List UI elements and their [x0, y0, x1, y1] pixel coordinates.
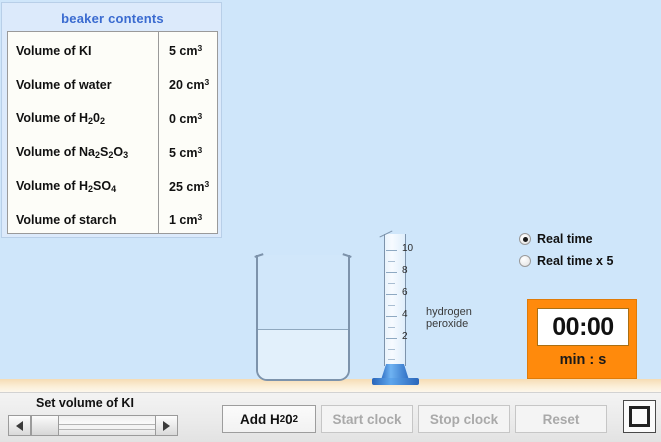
- simulation-canvas: beaker contents Volume of KI 5 cm3 Volum…: [0, 0, 661, 442]
- timer-value: 00:00: [537, 308, 629, 346]
- cylinder-tick-minor: [388, 261, 395, 262]
- cylinder-tick-label: 10: [402, 243, 413, 254]
- table-row: Volume of Na2S2O3 5 cm3: [8, 135, 217, 169]
- hydrogen-peroxide-label: hydrogen peroxide: [426, 306, 472, 330]
- table-row: Volume of H2SO4 25 cm3: [8, 169, 217, 203]
- cylinder-tick-label: 8: [402, 265, 408, 276]
- cylinder-tick-10: [386, 250, 397, 251]
- row-label: Volume of water: [8, 78, 158, 92]
- beaker-contents-panel: beaker contents Volume of KI 5 cm3 Volum…: [1, 2, 222, 238]
- cylinder-tick-minor: [388, 305, 395, 306]
- cylinder-tick-label: 4: [402, 309, 408, 320]
- cylinder-base-plate: [372, 378, 419, 385]
- table-row: Volume of starch 1 cm3: [8, 203, 217, 237]
- slider-track[interactable]: [31, 416, 155, 435]
- beaker-contents-table: Volume of KI 5 cm3 Volume of water 20 cm…: [7, 31, 218, 234]
- cylinder-tick-minor: [388, 359, 395, 360]
- fullscreen-button[interactable]: [623, 400, 656, 433]
- start-clock-button[interactable]: Start clock: [321, 405, 413, 433]
- table-row: Volume of water 20 cm3: [8, 68, 217, 102]
- row-value: 1 cm3: [158, 212, 217, 227]
- cylinder-tick-6: [386, 294, 397, 295]
- label-line-1: hydrogen: [426, 306, 472, 318]
- beaker: [256, 255, 350, 381]
- row-value: 5 cm3: [158, 145, 217, 160]
- cylinder-tick-minor: [388, 283, 395, 284]
- cylinder-tick-label: 6: [402, 287, 408, 298]
- row-label: Volume of KI: [8, 44, 158, 58]
- reset-button[interactable]: Reset: [515, 405, 607, 433]
- add-hydrogen-peroxide-button[interactable]: Add H202: [222, 405, 316, 433]
- radio-icon-unselected[interactable]: [519, 255, 531, 267]
- beaker-liquid: [258, 329, 348, 379]
- cylinder-tick-label: 2: [402, 331, 408, 342]
- radio-icon-selected[interactable]: [519, 233, 531, 245]
- cylinder-tick-minor: [388, 349, 395, 350]
- speed-radio-group: Real time Real time x 5: [519, 228, 659, 272]
- table-row: Volume of KI 5 cm3: [8, 34, 217, 68]
- cylinder-tick-8: [386, 272, 397, 273]
- bottom-toolbar: Set volume of KI Add H202 Start clock St…: [0, 392, 661, 442]
- row-label: Volume of H202: [8, 111, 158, 126]
- slider-increment-button[interactable]: [155, 416, 177, 435]
- triangle-right-icon: [163, 421, 170, 431]
- radio-option-real-time[interactable]: Real time: [519, 228, 659, 250]
- panel-title: beaker contents: [2, 11, 223, 26]
- radio-label: Real time: [537, 232, 593, 246]
- row-label: Volume of starch: [8, 213, 158, 227]
- row-value: 0 cm3: [158, 111, 217, 126]
- slider-decrement-button[interactable]: [9, 416, 31, 435]
- measuring-cylinder[interactable]: 10 8 6 4 2 hydrogen peroxide: [376, 228, 436, 384]
- radio-label: Real time x 5: [537, 254, 613, 268]
- timer-units-label: min : s: [528, 352, 638, 368]
- radio-option-real-time-x5[interactable]: Real time x 5: [519, 250, 659, 272]
- fullscreen-icon-corner: [638, 415, 650, 427]
- label-line-2: peroxide: [426, 318, 472, 330]
- cylinder-tick-2: [386, 338, 397, 339]
- cylinder-tick-4: [386, 316, 397, 317]
- slider-label: Set volume of KI: [36, 396, 134, 410]
- slider-thumb[interactable]: [31, 416, 59, 435]
- volume-ki-slider[interactable]: [8, 415, 178, 436]
- row-value: 25 cm3: [158, 179, 217, 194]
- table-row: Volume of H202 0 cm3: [8, 102, 217, 136]
- row-label: Volume of H2SO4: [8, 179, 158, 194]
- row-value: 5 cm3: [158, 43, 217, 58]
- timer-panel: 00:00 min : s: [527, 299, 637, 379]
- triangle-left-icon: [16, 421, 23, 431]
- row-value: 20 cm3: [158, 77, 217, 92]
- row-label: Volume of Na2S2O3: [8, 145, 158, 160]
- cylinder-tick-minor: [388, 327, 395, 328]
- stop-clock-button[interactable]: Stop clock: [418, 405, 510, 433]
